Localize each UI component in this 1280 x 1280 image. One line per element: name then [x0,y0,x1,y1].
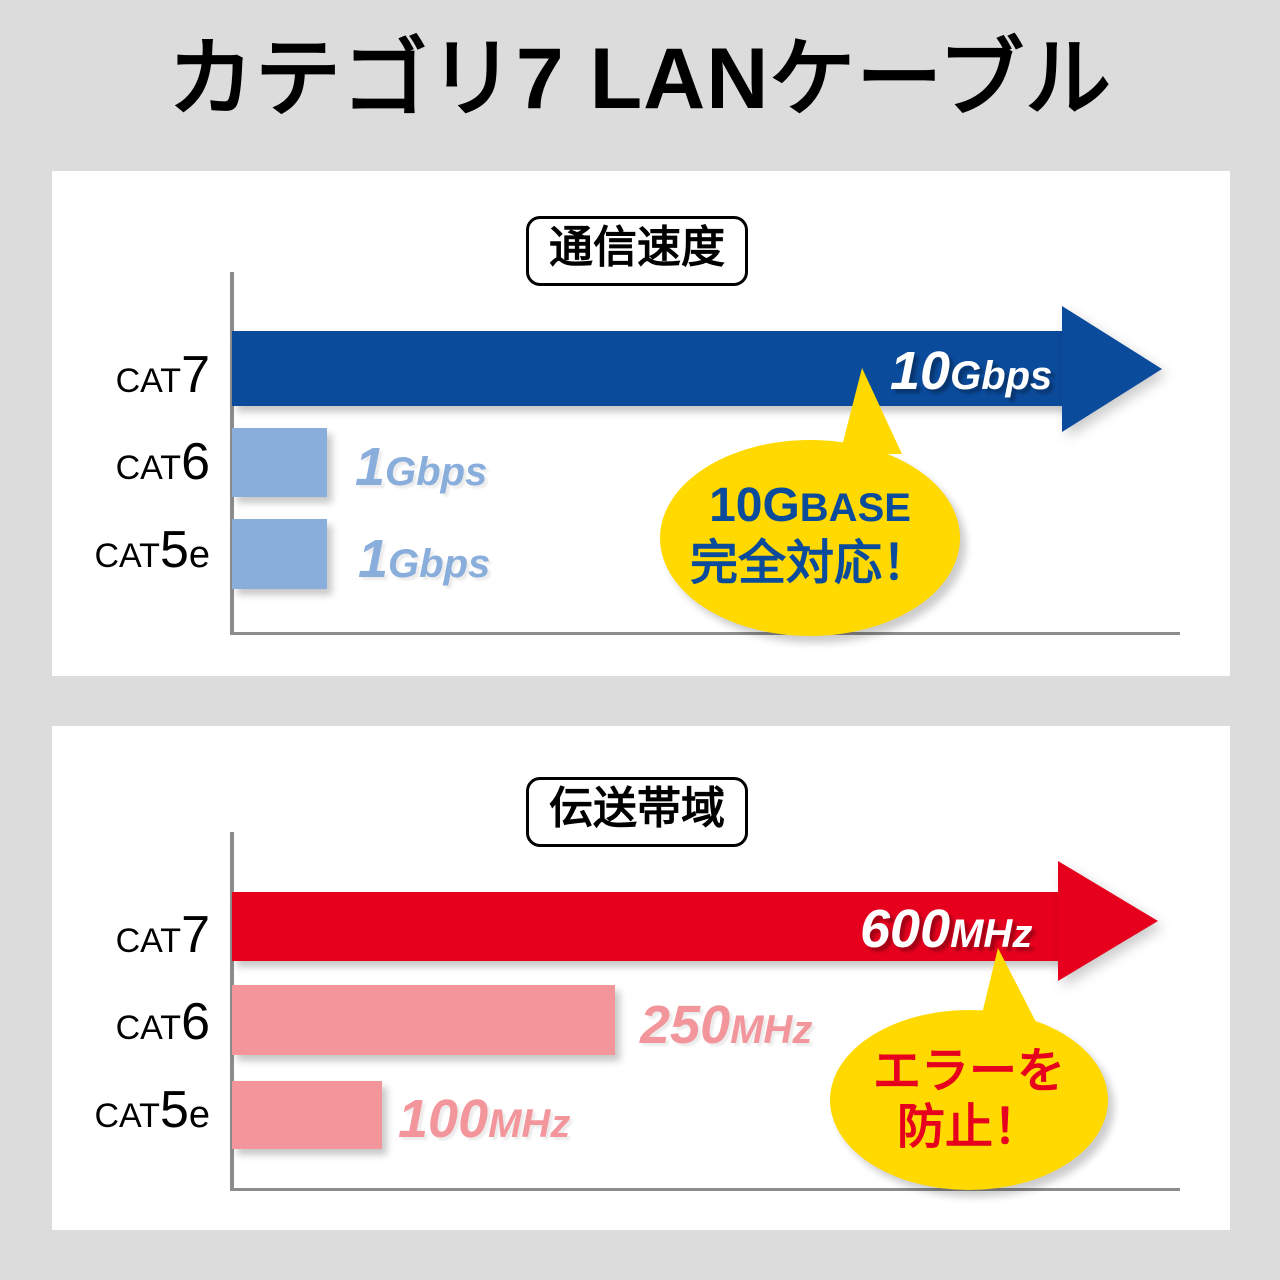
cat-suffix: e [189,534,210,576]
value-number: 600 [860,899,950,959]
cat-prefix: CAT [116,362,181,400]
bandwidth-chart-heading: 伝送帯域 [526,777,748,847]
bandwidth-category-label-cat6: CAT6 [20,992,210,1052]
balloon-line1: 10GBASE [709,479,911,532]
bandwidth-bar-cat7-arrowhead [1058,861,1158,981]
speed-category-label-cat7: CAT7 [20,345,210,405]
speed-value-cat6: 1Gbps [355,440,487,494]
balloon-line1: エラーを [873,1045,1065,1098]
cat-prefix: CAT [94,537,159,575]
cat-prefix: CAT [94,1097,159,1135]
cat-number: 7 [181,906,210,964]
cat-prefix: CAT [116,1009,181,1047]
balloon-line1-suffix: BASE [800,486,911,530]
cat-prefix: CAT [116,449,181,487]
speed-bar-cat6 [232,428,327,497]
bandwidth-category-label-cat7: CAT7 [20,905,210,965]
cat-number: 5 [160,1081,189,1139]
poster-root: カテゴリ7 LANケーブル 通信速度 CAT7 CAT6 CAT5e 10Gbp… [0,0,1280,1280]
value-unit: Gbps [385,450,487,494]
balloon-tail [980,948,1036,1022]
value-unit: Gbps [388,542,490,586]
cat-number: 6 [181,433,210,491]
value-number: 100 [398,1089,488,1149]
balloon-tail [840,368,902,454]
balloon-line2: 完全対応！ [660,538,960,590]
cat-prefix: CAT [116,922,181,960]
cat-number: 7 [181,346,210,404]
speed-bar-cat5e [232,519,327,589]
value-unit: MHz [488,1102,570,1146]
bandwidth-category-label-cat5e: CAT5e [20,1080,210,1140]
speed-category-label-cat6: CAT6 [20,432,210,492]
balloon-line1-prefix: 10G [709,479,800,532]
speed-callout-balloon: 10GBASE 完全対応！ [660,440,960,636]
value-unit: Gbps [950,354,1052,398]
value-number: 1 [358,529,388,589]
balloon-text: エラーを 防止！ [830,1046,1108,1154]
bandwidth-callout-balloon: エラーを 防止！ [830,1010,1108,1190]
speed-bar-cat7-arrowhead [1062,306,1162,432]
value-number: 1 [355,437,385,497]
bandwidth-value-cat5e: 100MHz [398,1092,570,1146]
speed-chart-heading: 通信速度 [526,216,748,286]
cat-number: 6 [181,993,210,1051]
page-title: カテゴリ7 LANケーブル [0,34,1280,124]
bandwidth-bar-cat5e [232,1081,382,1149]
cat-number: 5 [160,521,189,579]
value-number: 250 [640,995,730,1055]
cat-suffix: e [189,1094,210,1136]
value-unit: MHz [730,1008,812,1052]
bandwidth-value-cat6: 250MHz [640,998,812,1052]
speed-category-label-cat5e: CAT5e [20,520,210,580]
speed-value-cat7: 10Gbps [890,344,1052,398]
balloon-text: 10GBASE 完全対応！ [660,480,960,590]
speed-value-cat5e: 1Gbps [358,532,490,586]
balloon-line2: 防止！ [830,1102,1108,1154]
bandwidth-bar-cat6 [232,985,615,1055]
